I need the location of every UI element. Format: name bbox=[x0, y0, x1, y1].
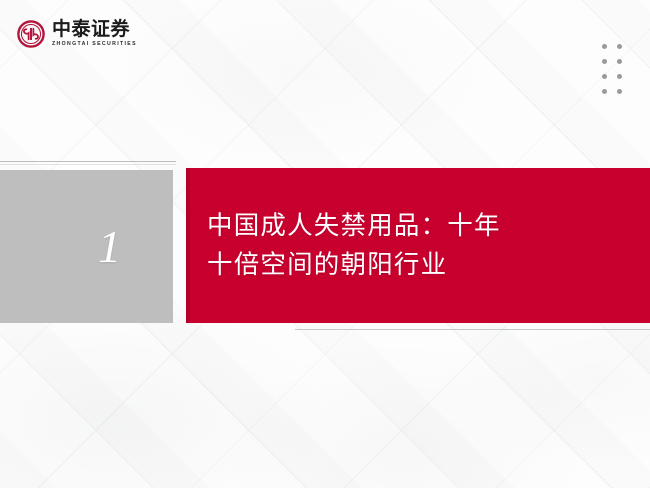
dot-grid-decoration bbox=[602, 44, 622, 94]
dot bbox=[617, 74, 622, 79]
logo-company-name-cn: 中泰证券 bbox=[52, 19, 137, 39]
dot bbox=[602, 89, 607, 94]
divider-above-section-number-secondary bbox=[0, 164, 176, 165]
company-logo: 中泰证券 ZHONGTAI SECURITIES bbox=[17, 19, 137, 48]
divider-below-title-band bbox=[295, 329, 650, 330]
section-number-block: 1 bbox=[0, 170, 173, 323]
dot bbox=[617, 44, 622, 49]
dot bbox=[602, 44, 607, 49]
dot bbox=[617, 59, 622, 64]
section-title: 中国成人失禁用品：十年 十倍空间的朝阳行业 bbox=[207, 207, 501, 285]
divider-above-section-number bbox=[0, 161, 176, 162]
logo-company-name-en: ZHONGTAI SECURITIES bbox=[52, 40, 137, 48]
dot bbox=[602, 74, 607, 79]
section-number: 1 bbox=[98, 224, 121, 270]
section-title-band: 中国成人失禁用品：十年 十倍空间的朝阳行业 bbox=[186, 168, 650, 323]
zhongtai-circle-emblem-icon bbox=[17, 20, 45, 48]
presentation-slide: 中泰证券 ZHONGTAI SECURITIES 1 中国成人失禁用品：十年 十… bbox=[0, 0, 650, 488]
dot bbox=[602, 59, 607, 64]
logo-wordmark: 中泰证券 ZHONGTAI SECURITIES bbox=[52, 19, 137, 48]
dot bbox=[617, 89, 622, 94]
